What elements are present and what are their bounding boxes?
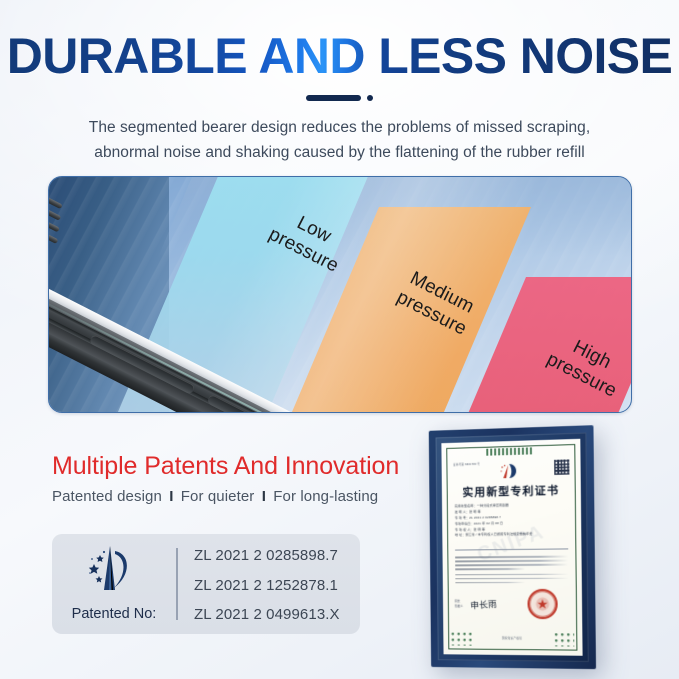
divider xyxy=(0,95,679,101)
patent-number-list: ZL 2021 2 0285898.7 ZL 2021 2 1252878.1 … xyxy=(194,547,352,623)
patent-number: ZL 2021 2 0499613.X xyxy=(194,606,352,623)
patent-number: ZL 2021 2 1252878.1 xyxy=(194,577,352,594)
cnipa-emblem-icon xyxy=(499,463,521,481)
subtitle-line-2: abnormal noise and shaking caused by the… xyxy=(0,140,679,165)
patent-box-divider xyxy=(176,548,178,620)
certificate-ornament-top xyxy=(486,447,534,455)
patents-sub-part-2: For quieter xyxy=(181,488,255,505)
patent-number-box: Patented No: ZL 2021 2 0285898.7 ZL 2021… xyxy=(52,534,360,634)
patent-certificate: CNIPA 证书号第 6601789 号 实用新型专利证书 实用新型名称：一种分… xyxy=(429,425,596,669)
certificate-signature: 申长雨 xyxy=(470,597,497,612)
headline-container: DURABLE AND LESS NOISE xyxy=(0,31,679,81)
page-title: DURABLE AND LESS NOISE xyxy=(7,31,673,81)
patents-subheading: Patented design I For quieter I For long… xyxy=(52,488,378,505)
patents-sub-separator: I xyxy=(166,488,176,505)
divider-dot xyxy=(367,95,373,101)
certificate-fields: 实用新型名称：一种分段式承压雨刮器 发 明 人：张 明 等 专 利 号：ZL 2… xyxy=(455,502,569,539)
hero-product-panel: Low pressure Medium pressure High pressu… xyxy=(48,176,632,413)
patents-heading: Multiple Patents And Innovation xyxy=(52,452,399,481)
patent-logo-column: Patented No: xyxy=(52,534,174,634)
seal-emblem-icon: ★ xyxy=(537,597,549,610)
patent-no-label: Patented No: xyxy=(58,606,170,622)
qr-code-icon xyxy=(554,459,569,475)
certificate-doc-number: 证书号第 6601789 号 xyxy=(453,462,480,467)
subtitle: The segmented bearer design reduces the … xyxy=(0,115,679,165)
patents-sub-part-1: Patented design xyxy=(52,488,162,505)
patent-monument-logo-icon xyxy=(80,544,142,594)
subtitle-line-1: The segmented bearer design reduces the … xyxy=(0,115,679,140)
patent-number: ZL 2021 2 0285898.7 xyxy=(194,547,352,564)
certificate-signature-label: 局长 签发人 xyxy=(455,599,463,609)
official-seal: ★ xyxy=(527,589,557,619)
certificate-paper: CNIPA 证书号第 6601789 号 实用新型专利证书 实用新型名称：一种分… xyxy=(441,439,582,656)
certificate-body-text xyxy=(455,555,568,585)
certificate-title: 实用新型专利证书 xyxy=(442,481,581,500)
patents-sub-part-3: For long-lasting xyxy=(273,488,378,505)
divider-bar xyxy=(306,95,361,101)
product-infographic: DURABLE AND LESS NOISE The segmented bea… xyxy=(0,0,679,679)
patents-sub-separator: I xyxy=(259,488,269,505)
